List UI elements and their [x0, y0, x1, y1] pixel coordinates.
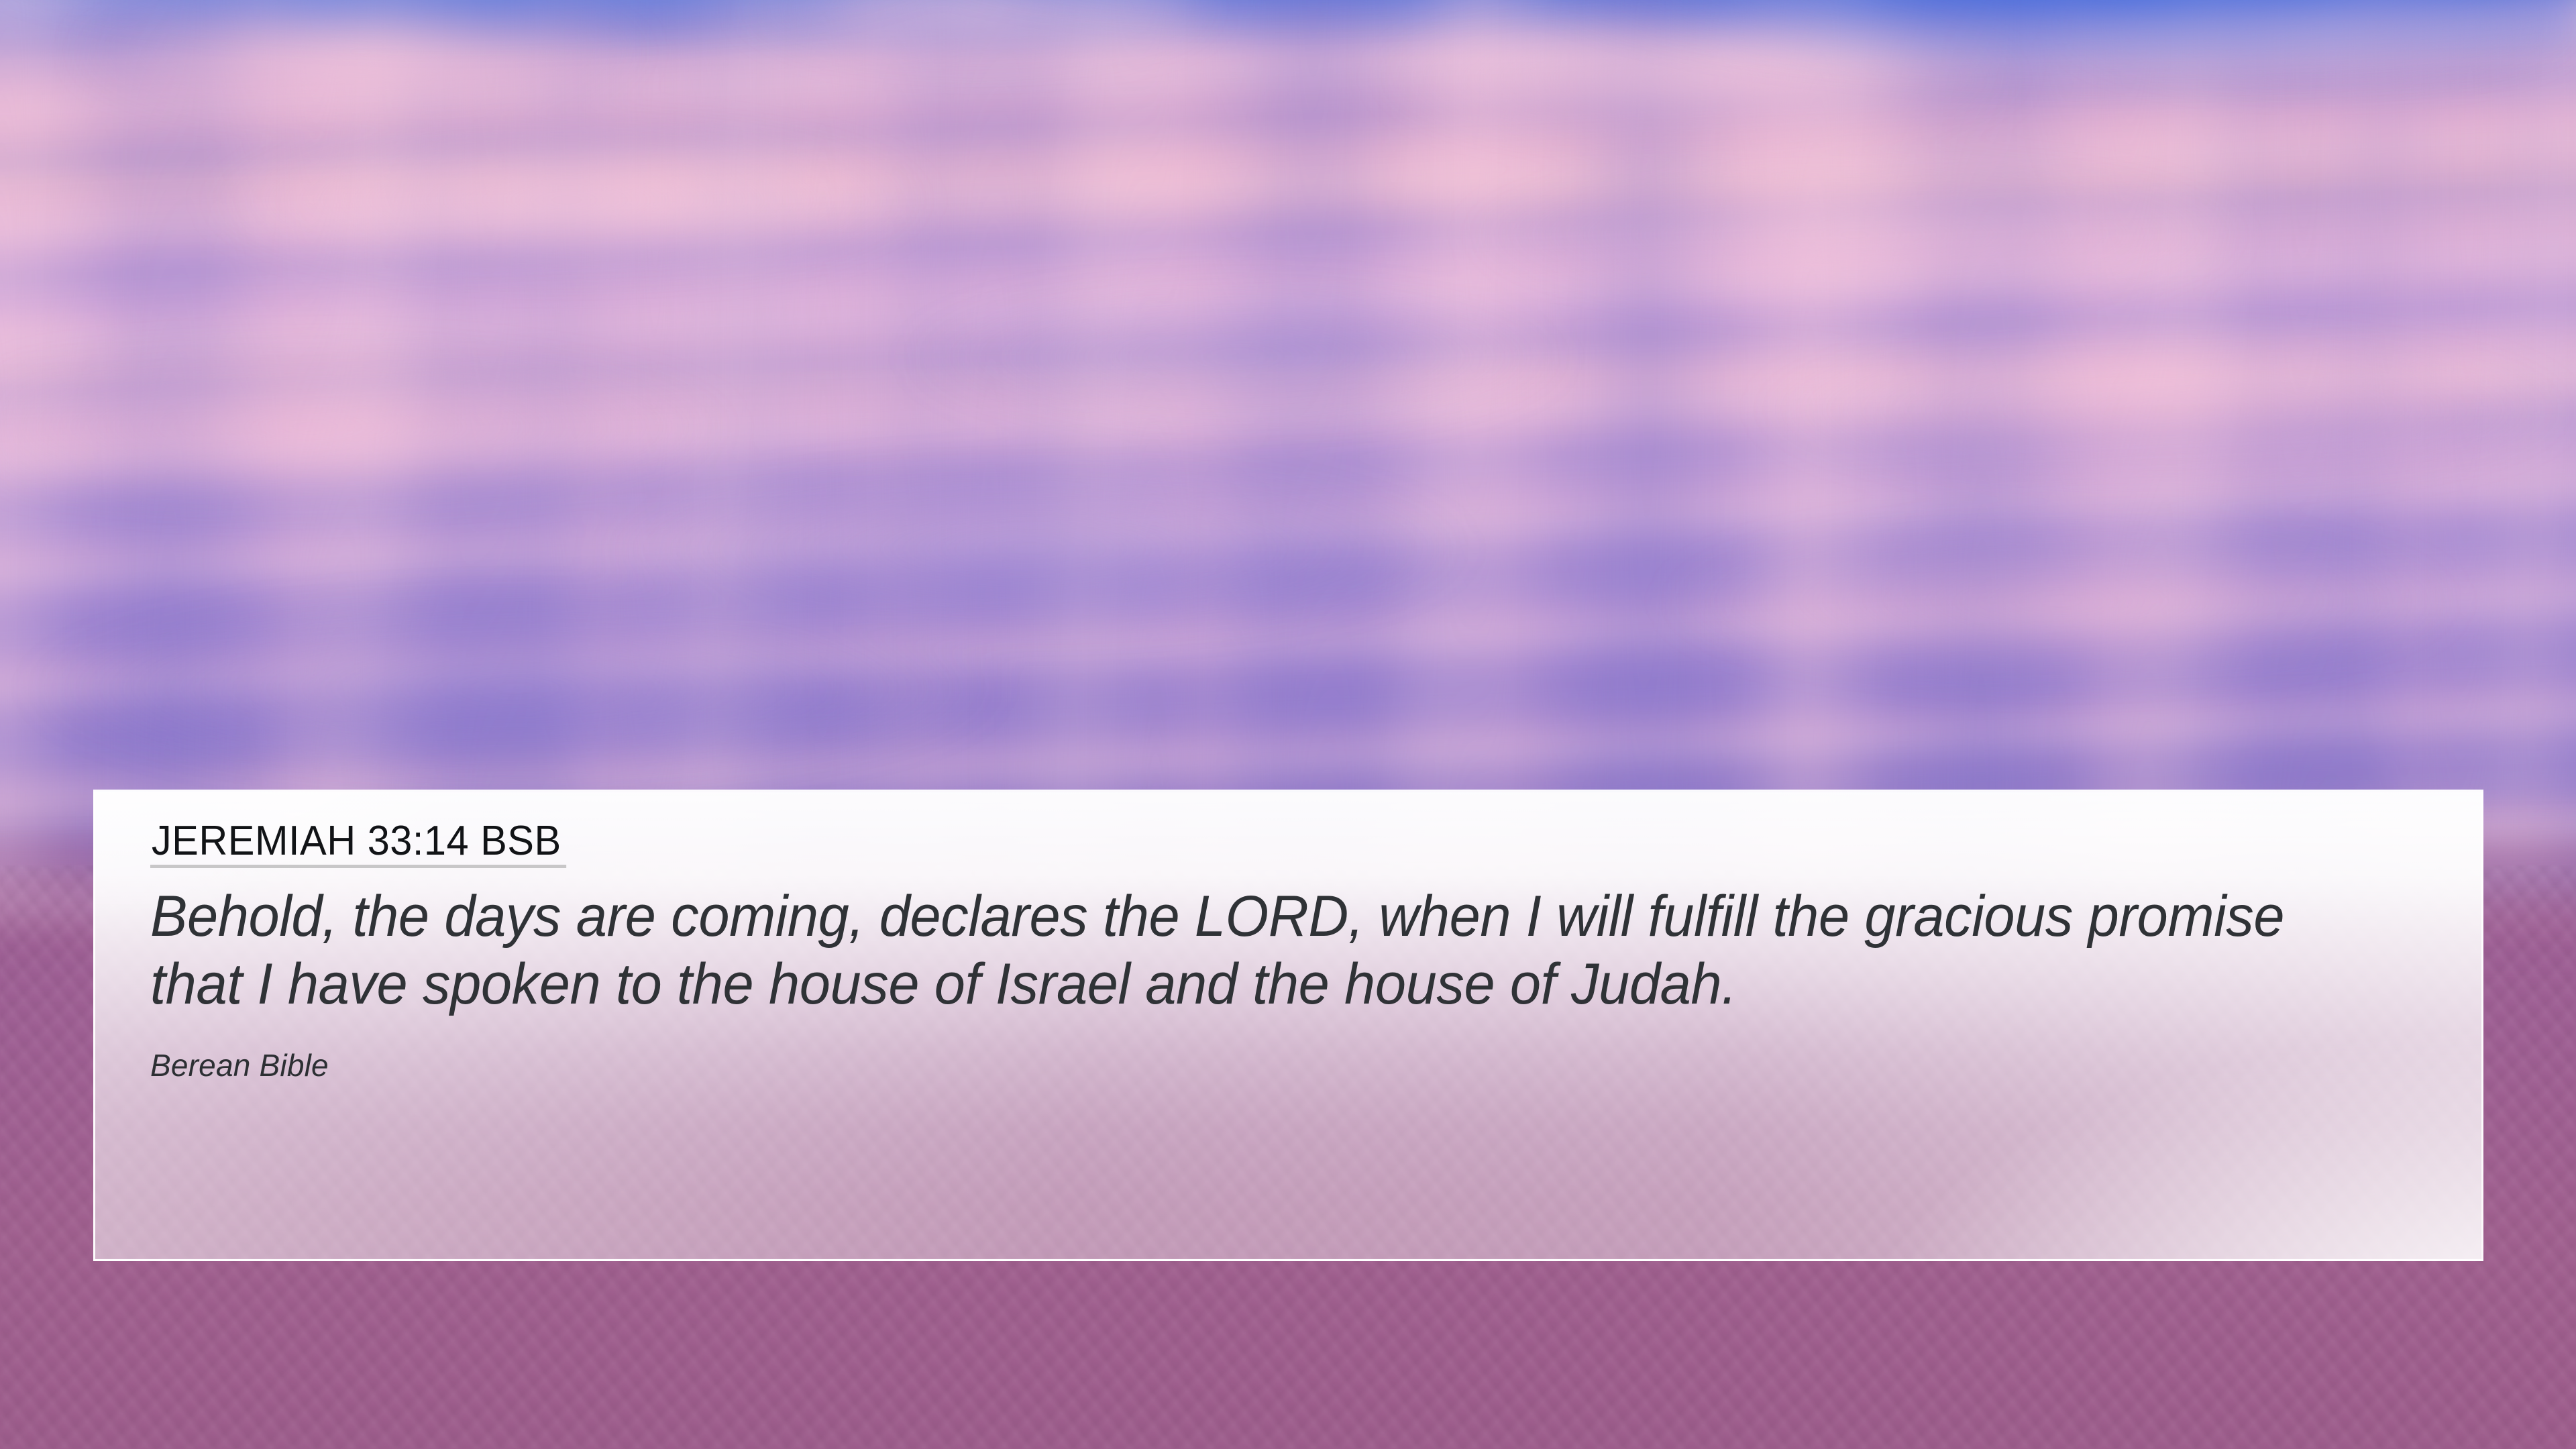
translation-attribution: Berean Bible: [150, 1049, 2481, 1083]
card-content: JEREMIAH 33:14 BSB Behold, the days are …: [95, 792, 2481, 1083]
scripture-quote-card: JEREMIAH 33:14 BSB Behold, the days are …: [93, 790, 2483, 1261]
scripture-quote-text: Behold, the days are coming, declares th…: [150, 883, 2364, 1018]
scripture-reference: JEREMIAH 33:14 BSB: [150, 820, 566, 868]
screenshot-root: JEREMIAH 33:14 BSB Behold, the days are …: [0, 0, 2576, 1449]
photo-sky-band: [0, 0, 2576, 255]
